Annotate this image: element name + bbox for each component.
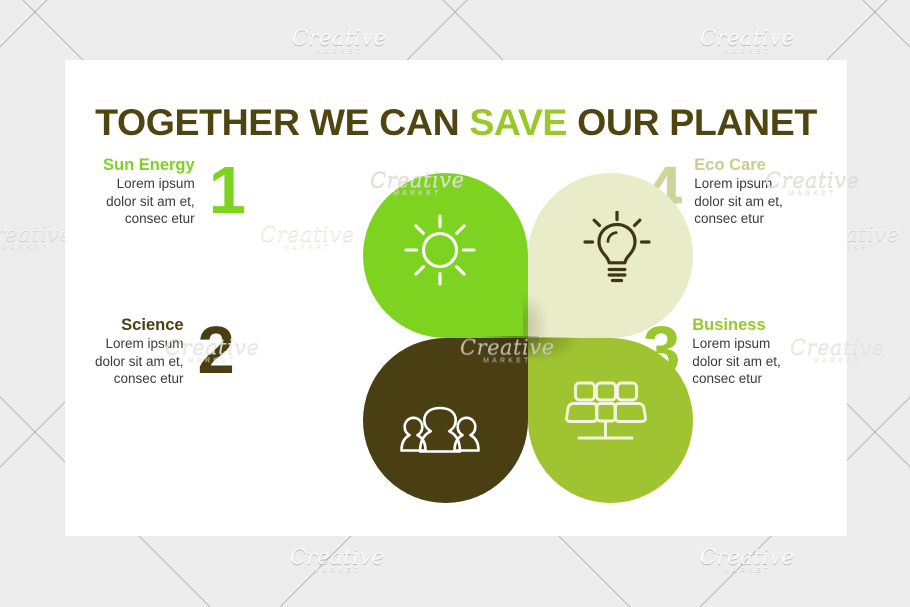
people-group-icon [357,344,522,509]
watermark: CreativeMARKET [765,168,860,197]
segment-heading: Science [95,315,184,335]
segment-description: Lorem ipsum dolor sit am et, consec etur [692,335,781,388]
segment-heading: Sun Energy [103,155,195,175]
watermark: CreativeMARKET [700,545,795,574]
watermark: CreativeMARKET [0,222,73,251]
title-highlight: SAVE [469,101,567,143]
watermark: CreativeMARKET [790,335,885,364]
watermark: CreativeMARKET [260,222,355,251]
title-part-2: OUR PLANET [567,101,817,143]
page-title: TOGETHER WE CAN SAVE OUR PLANET [65,101,847,144]
watermark: CreativeMARKET [460,335,555,364]
petal-eco-care[interactable] [528,173,693,338]
watermark: CreativeMARKET [165,335,260,364]
watermark: CreativeMARKET [370,168,465,197]
watermark: CreativeMARKET [292,26,387,55]
segment-number: 1 [209,160,245,222]
segment-description: Lorem ipsum dolor sit am et, consec etur [103,175,195,228]
infographic-card: TOGETHER WE CAN SAVE OUR PLANET Sun Ener… [65,60,847,536]
lightbulb-icon [534,167,699,332]
title-part-1: TOGETHER WE CAN [95,101,469,143]
segment-heading: Business [692,315,781,335]
petal-sun-energy[interactable] [363,173,528,338]
segment-label-sun-energy[interactable]: Sun Energy Lorem ipsum dolor sit am et, … [103,155,245,228]
watermark: CreativeMARKET [700,26,795,55]
watermark: CreativeMARKET [290,545,385,574]
